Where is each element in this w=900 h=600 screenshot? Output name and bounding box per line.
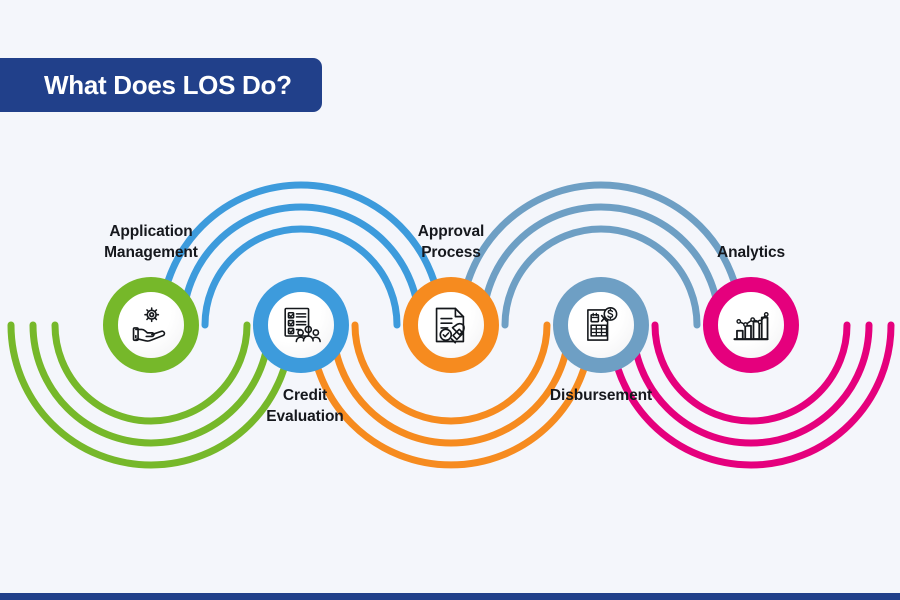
node-approval-process[interactable] bbox=[403, 277, 499, 373]
label-line: Credit bbox=[205, 385, 405, 406]
label-approval-process: Approval Process bbox=[351, 221, 551, 263]
document-stamp-icon bbox=[429, 303, 473, 347]
label-line: Analytics bbox=[651, 242, 851, 263]
checklist-people-icon bbox=[279, 303, 323, 347]
node-application-management[interactable] bbox=[103, 277, 199, 373]
label-line: Approval bbox=[351, 221, 551, 242]
label-application-management: Application Management bbox=[51, 221, 251, 263]
label-line: Disbursement bbox=[501, 385, 701, 406]
label-line: Evaluation bbox=[205, 406, 405, 427]
label-line: Process bbox=[351, 242, 551, 263]
label-analytics: Analytics bbox=[651, 242, 851, 263]
label-credit-evaluation: Credit Evaluation bbox=[205, 385, 405, 427]
hand-gear-icon bbox=[129, 303, 173, 347]
label-line: Management bbox=[51, 242, 251, 263]
node-credit-evaluation[interactable] bbox=[253, 277, 349, 373]
label-disbursement: Disbursement bbox=[501, 385, 701, 406]
invoice-dollar-icon bbox=[580, 304, 622, 346]
node-analytics[interactable] bbox=[703, 277, 799, 373]
process-diagram: Application Management bbox=[0, 0, 900, 600]
node-disbursement[interactable] bbox=[553, 277, 649, 373]
bar-chart-trend-icon bbox=[729, 303, 773, 347]
bottom-rule bbox=[0, 593, 900, 600]
label-line: Application bbox=[51, 221, 251, 242]
